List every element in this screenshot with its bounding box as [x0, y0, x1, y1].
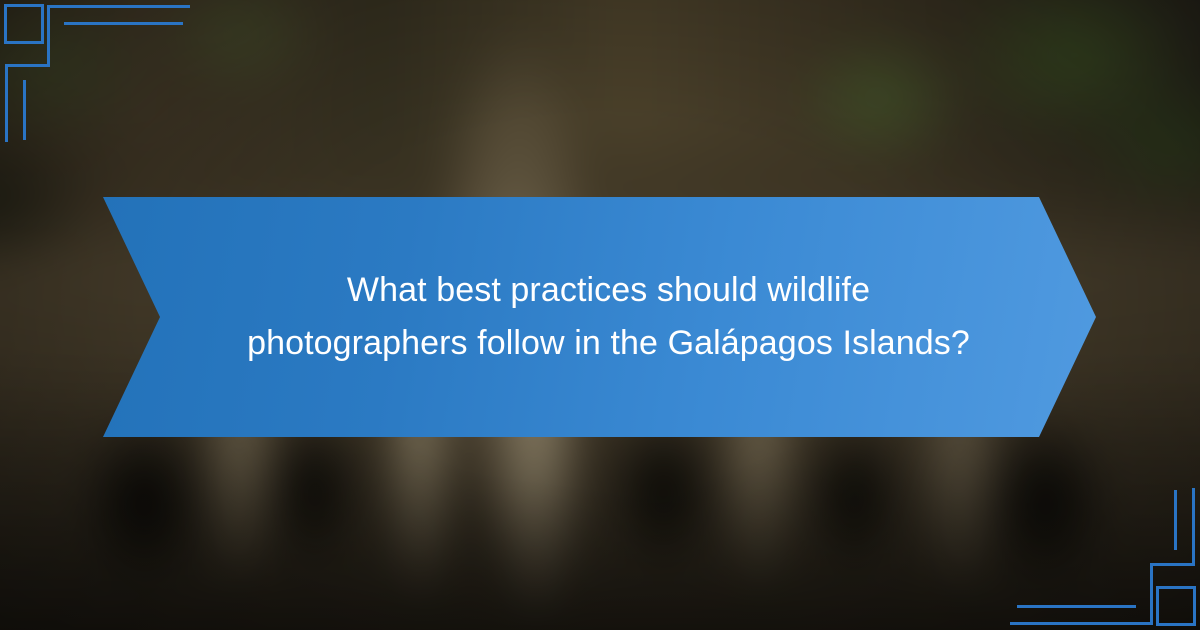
headline-text: What best practices should wildlife phot… — [199, 264, 1019, 369]
headline-banner: What best practices should wildlife phot… — [103, 197, 1096, 437]
social-card: What best practices should wildlife phot… — [0, 0, 1200, 630]
